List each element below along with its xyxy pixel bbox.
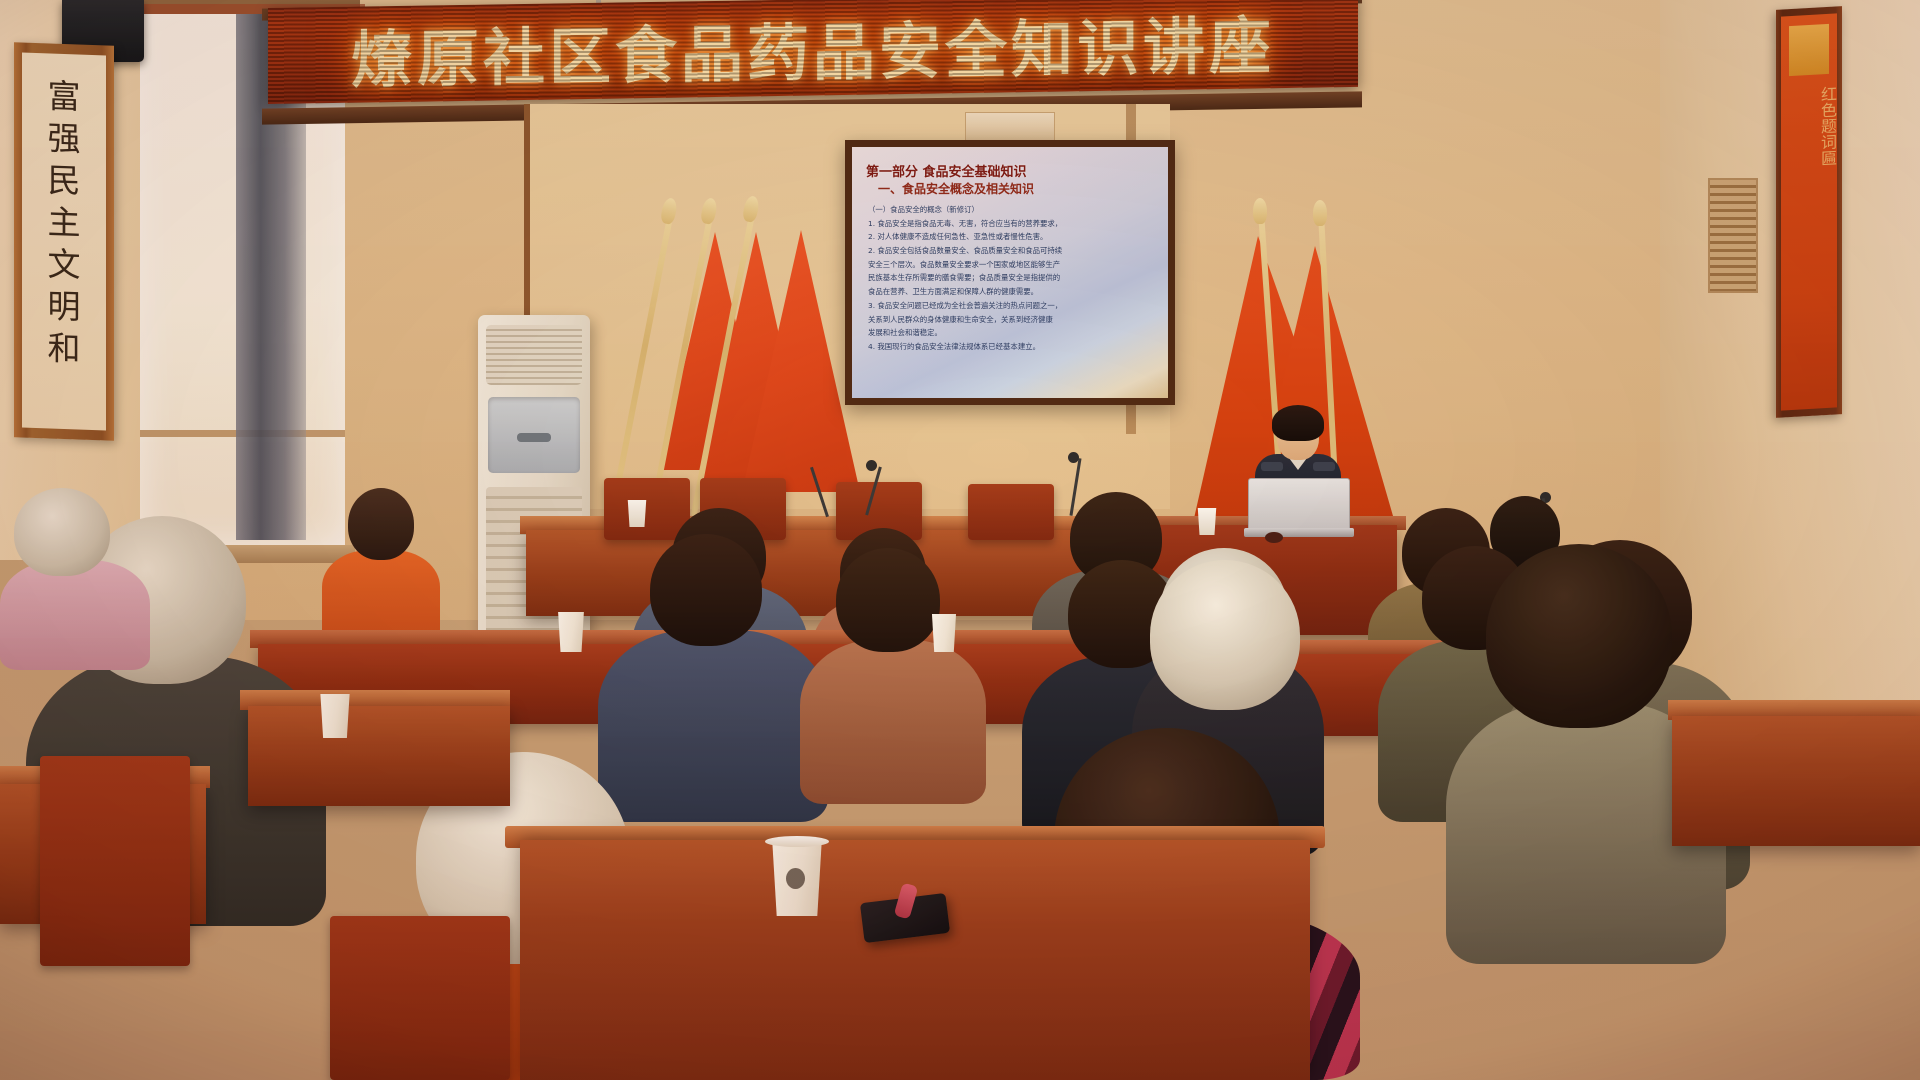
person-head <box>1150 560 1300 710</box>
plaque-face: 红色题词匾 <box>1781 13 1837 410</box>
slide-line: 关系到人民群众的身体健康和生命安全，关系到经济健康 <box>868 313 1156 327</box>
wall-vent <box>1708 178 1758 293</box>
led-banner-text: 燎原社区食品药品安全知识讲座 <box>268 0 1358 101</box>
projection-screen: 第一部分 食品安全基础知识 一、食品安全概念及相关知识 （一）食品安全的概念（新… <box>852 147 1168 398</box>
audience-member <box>0 488 150 668</box>
slide-line: 发展和社会和谐稳定。 <box>868 326 1156 340</box>
scroll-paper: 富 强 民 主 文 明 和 <box>22 53 106 431</box>
person-torso <box>322 550 440 642</box>
ac-logo-icon <box>517 433 551 442</box>
mouse <box>1265 532 1283 543</box>
slide-line: 食品在营养、卫生方面满足和保障人群的健康需要。 <box>868 285 1156 299</box>
scroll-char: 主 <box>48 205 81 239</box>
scroll-char: 强 <box>48 121 81 155</box>
cup-logo-icon <box>786 868 805 889</box>
slide-line: （一）食品安全的概念（新修订） <box>868 203 1156 217</box>
audience-member <box>800 548 986 798</box>
slide-line: 2. 对人体健康不造成任何急性、亚急性或者慢性危害。 <box>868 230 1156 244</box>
slide-line: 安全三个层次。食品数量安全要求一个国家或地区能够生产 <box>868 258 1156 272</box>
person-head <box>1486 544 1672 728</box>
slide-body: （一）食品安全的概念（新修订） 1. 食品安全是指食品无毒、无害，符合应当有的营… <box>868 203 1156 354</box>
led-banner: 燎原社区食品药品安全知识讲座 <box>268 0 1358 104</box>
person-torso <box>800 640 986 804</box>
laptop-keyboard <box>1244 528 1354 537</box>
red-plaque-right: 红色题词匾 <box>1776 6 1842 418</box>
scroll-char: 富 <box>48 79 81 113</box>
plaque-text: 红色题词匾 <box>1781 85 1837 168</box>
plaque-seal-icon <box>1789 24 1829 76</box>
ac-top-grill <box>486 325 582 385</box>
cup-rim <box>765 836 829 847</box>
slide-line: 1. 食品安全是指食品无毒、无害，符合应当有的营养要求， <box>868 217 1156 231</box>
person-head <box>836 548 940 652</box>
side-desk <box>248 706 510 806</box>
epaulette-right <box>1313 462 1335 471</box>
lecture-room-photo: 燎原社区食品药品安全知识讲座 富 强 民 主 文 明 和 红色题词匾 <box>0 0 1920 1080</box>
paper-cup <box>318 694 352 738</box>
epaulette-left <box>1261 462 1283 471</box>
slide-title: 第一部分 食品安全基础知识 <box>866 161 1160 180</box>
flag-finial-icon <box>1253 198 1267 224</box>
foreground-desk <box>520 840 1310 1080</box>
audience-member <box>322 488 440 638</box>
chair <box>330 916 510 1080</box>
scroll-char: 明 <box>48 289 81 323</box>
slide-subtitle: 一、食品安全概念及相关知识 <box>878 180 1160 197</box>
slide-line: 2. 食品安全包括食品数量安全、食品质量安全和食品可持续 <box>868 244 1156 258</box>
laptop-screen <box>1248 478 1350 530</box>
scroll-char: 民 <box>48 163 81 197</box>
microphone-head-icon <box>866 460 877 471</box>
scroll-char: 文 <box>48 247 81 281</box>
projection-screen-frame: 第一部分 食品安全基础知识 一、食品安全概念及相关知识 （一）食品安全的概念（新… <box>845 140 1175 405</box>
person-torso <box>0 560 150 670</box>
paper-cup <box>556 612 586 652</box>
calligraphy-scroll-left: 富 强 民 主 文 明 和 <box>14 42 114 440</box>
person-head <box>650 534 762 646</box>
chair <box>40 756 190 966</box>
slide-line: 3. 食品安全问题已经成为全社会普遍关注的热点问题之一， <box>868 299 1156 313</box>
paper-cup <box>930 614 958 652</box>
slide-line: 4. 我国现行的食品安全法律法规体系已经基本建立。 <box>868 340 1156 354</box>
side-desk <box>1672 716 1920 846</box>
scroll-char: 和 <box>48 331 81 365</box>
slide-line: 民族基本生存所需要的膳食需要；食品质量安全是指提供的 <box>868 271 1156 285</box>
presenter-hair <box>1272 405 1324 441</box>
person-head <box>14 488 110 576</box>
person-head <box>348 488 414 560</box>
screen-mount-bracket <box>965 112 1055 142</box>
laptop <box>1244 478 1354 536</box>
flag-finial-icon <box>1313 200 1327 226</box>
